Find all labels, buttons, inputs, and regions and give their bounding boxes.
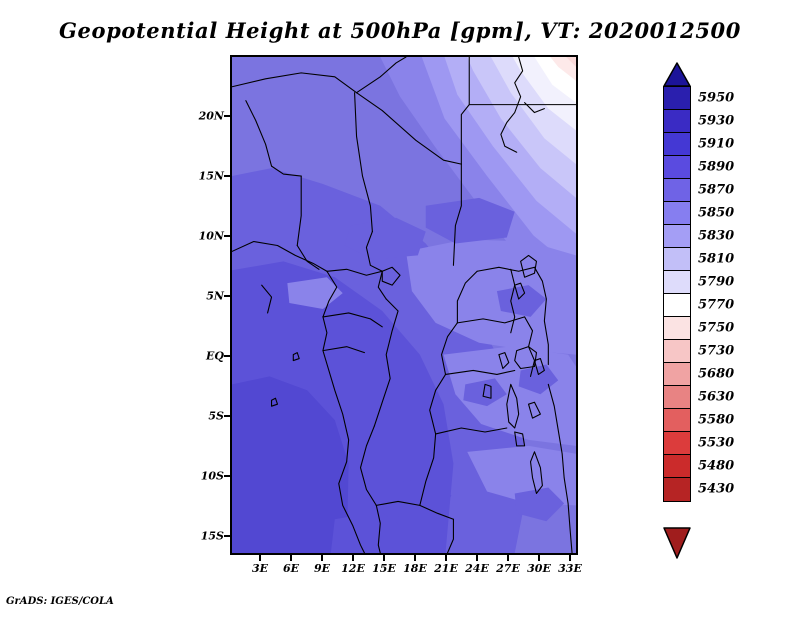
colorbar-label-5730: 5730 xyxy=(698,344,734,359)
lat-tick-mark xyxy=(224,115,230,117)
lat-tick-mark xyxy=(224,475,230,477)
colorbar-label-5580: 5580 xyxy=(698,413,734,428)
lon-tick-label-15E: 15E xyxy=(372,562,396,575)
colorbar-cell[interactable]: 5430 xyxy=(663,477,691,502)
colorbar-cell[interactable]: 5730 xyxy=(663,339,691,364)
lat-tick-label-5S: 5S xyxy=(208,410,224,423)
lon-tick-mark xyxy=(321,555,323,561)
lat-tick-mark xyxy=(224,295,230,297)
lon-tick-label-6E: 6E xyxy=(283,562,299,575)
lon-tick-label-3E: 3E xyxy=(252,562,268,575)
colorbar-label-5770: 5770 xyxy=(698,298,734,313)
lon-tick-label-9E: 9E xyxy=(314,562,330,575)
lat-tick-label-10S: 10S xyxy=(201,470,224,483)
colorbar-label-5830: 5830 xyxy=(698,229,734,244)
colorbar-cell[interactable]: 5810 xyxy=(663,247,691,272)
colorbar-cell[interactable]: 5850 xyxy=(663,201,691,226)
colorbar-label-5530: 5530 xyxy=(698,436,734,451)
lon-tick-mark xyxy=(569,555,571,561)
lat-tick-label-5N: 5N xyxy=(206,290,224,303)
colorbar-label-5950: 5950 xyxy=(698,91,734,106)
colorbar-under-arrow xyxy=(663,527,691,551)
lat-tick-label-EQ: EQ xyxy=(206,350,224,363)
colorbar-label-5910: 5910 xyxy=(698,137,734,152)
lon-tick-mark xyxy=(259,555,261,561)
colorbar[interactable]: 5950 5930 5910 5890 5870 5850 5830 5810 … xyxy=(663,62,691,554)
contour-fill-svg xyxy=(232,57,576,553)
colorbar-label-5790: 5790 xyxy=(698,275,734,290)
colorbar-label-5870: 5870 xyxy=(698,183,734,198)
map-panel[interactable]: 20N 15N 10N 5N EQ 5S 10S 15S 3E 6E 9E 12… xyxy=(230,55,578,555)
lat-tick-mark xyxy=(224,535,230,537)
colorbar-cell[interactable]: 5770 xyxy=(663,293,691,318)
colorbar-label-5480: 5480 xyxy=(698,459,734,474)
lon-tick-mark xyxy=(414,555,416,561)
colorbar-cell[interactable]: 5910 xyxy=(663,132,691,157)
colorbar-cell[interactable]: 5530 xyxy=(663,431,691,456)
lon-tick-mark xyxy=(507,555,509,561)
lon-tick-label-24E: 24E xyxy=(465,562,489,575)
lat-tick-label-10N: 10N xyxy=(199,230,224,243)
colorbar-cell[interactable]: 5870 xyxy=(663,178,691,203)
colorbar-cell[interactable]: 5480 xyxy=(663,454,691,479)
geopotential-height-field xyxy=(232,57,576,553)
colorbar-cell[interactable]: 5890 xyxy=(663,155,691,180)
lat-tick-mark xyxy=(224,235,230,237)
colorbar-cell[interactable]: 5950 xyxy=(663,86,691,111)
lat-tick-mark xyxy=(224,415,230,417)
lon-tick-mark xyxy=(352,555,354,561)
lat-tick-mark xyxy=(224,355,230,357)
colorbar-cell[interactable]: 5580 xyxy=(663,408,691,433)
colorbar-cell[interactable]: 5750 xyxy=(663,316,691,341)
colorbar-label-5430: 5430 xyxy=(698,482,734,497)
colorbar-label-5810: 5810 xyxy=(698,252,734,267)
lat-tick-label-20N: 20N xyxy=(199,110,224,123)
colorbar-cell[interactable]: 5790 xyxy=(663,270,691,295)
colorbar-cell[interactable]: 5930 xyxy=(663,109,691,134)
lat-tick-label-15N: 15N xyxy=(199,170,224,183)
lat-tick-label-15S: 15S xyxy=(201,530,224,543)
map-frame xyxy=(230,55,578,555)
lon-tick-mark xyxy=(476,555,478,561)
lon-tick-mark xyxy=(290,555,292,561)
lon-tick-mark xyxy=(445,555,447,561)
colorbar-over-arrow xyxy=(663,62,691,86)
lon-tick-label-21E: 21E xyxy=(434,562,458,575)
colorbar-label-5750: 5750 xyxy=(698,321,734,336)
colorbar-label-5930: 5930 xyxy=(698,114,734,129)
colorbar-label-5680: 5680 xyxy=(698,367,734,382)
lon-tick-mark xyxy=(538,555,540,561)
lon-tick-label-12E: 12E xyxy=(341,562,365,575)
lon-tick-label-33E: 33E xyxy=(558,562,582,575)
colorbar-cell[interactable]: 5680 xyxy=(663,362,691,387)
lon-tick-label-18E: 18E xyxy=(403,562,427,575)
lat-tick-mark xyxy=(224,175,230,177)
colorbar-label-5850: 5850 xyxy=(698,206,734,221)
page-title: Geopotential Height at 500hPa [gpm], VT:… xyxy=(0,18,800,43)
lon-tick-label-27E: 27E xyxy=(496,562,520,575)
colorbar-label-5890: 5890 xyxy=(698,160,734,175)
colorbar-cell[interactable]: 5830 xyxy=(663,224,691,249)
credit-text: GrADS: IGES/COLA xyxy=(6,596,114,607)
lon-tick-label-30E: 30E xyxy=(527,562,551,575)
colorbar-cell[interactable]: 5630 xyxy=(663,385,691,410)
colorbar-cells[interactable]: 5950 5930 5910 5890 5870 5850 5830 5810 … xyxy=(663,86,691,502)
colorbar-label-5630: 5630 xyxy=(698,390,734,405)
lon-tick-mark xyxy=(383,555,385,561)
